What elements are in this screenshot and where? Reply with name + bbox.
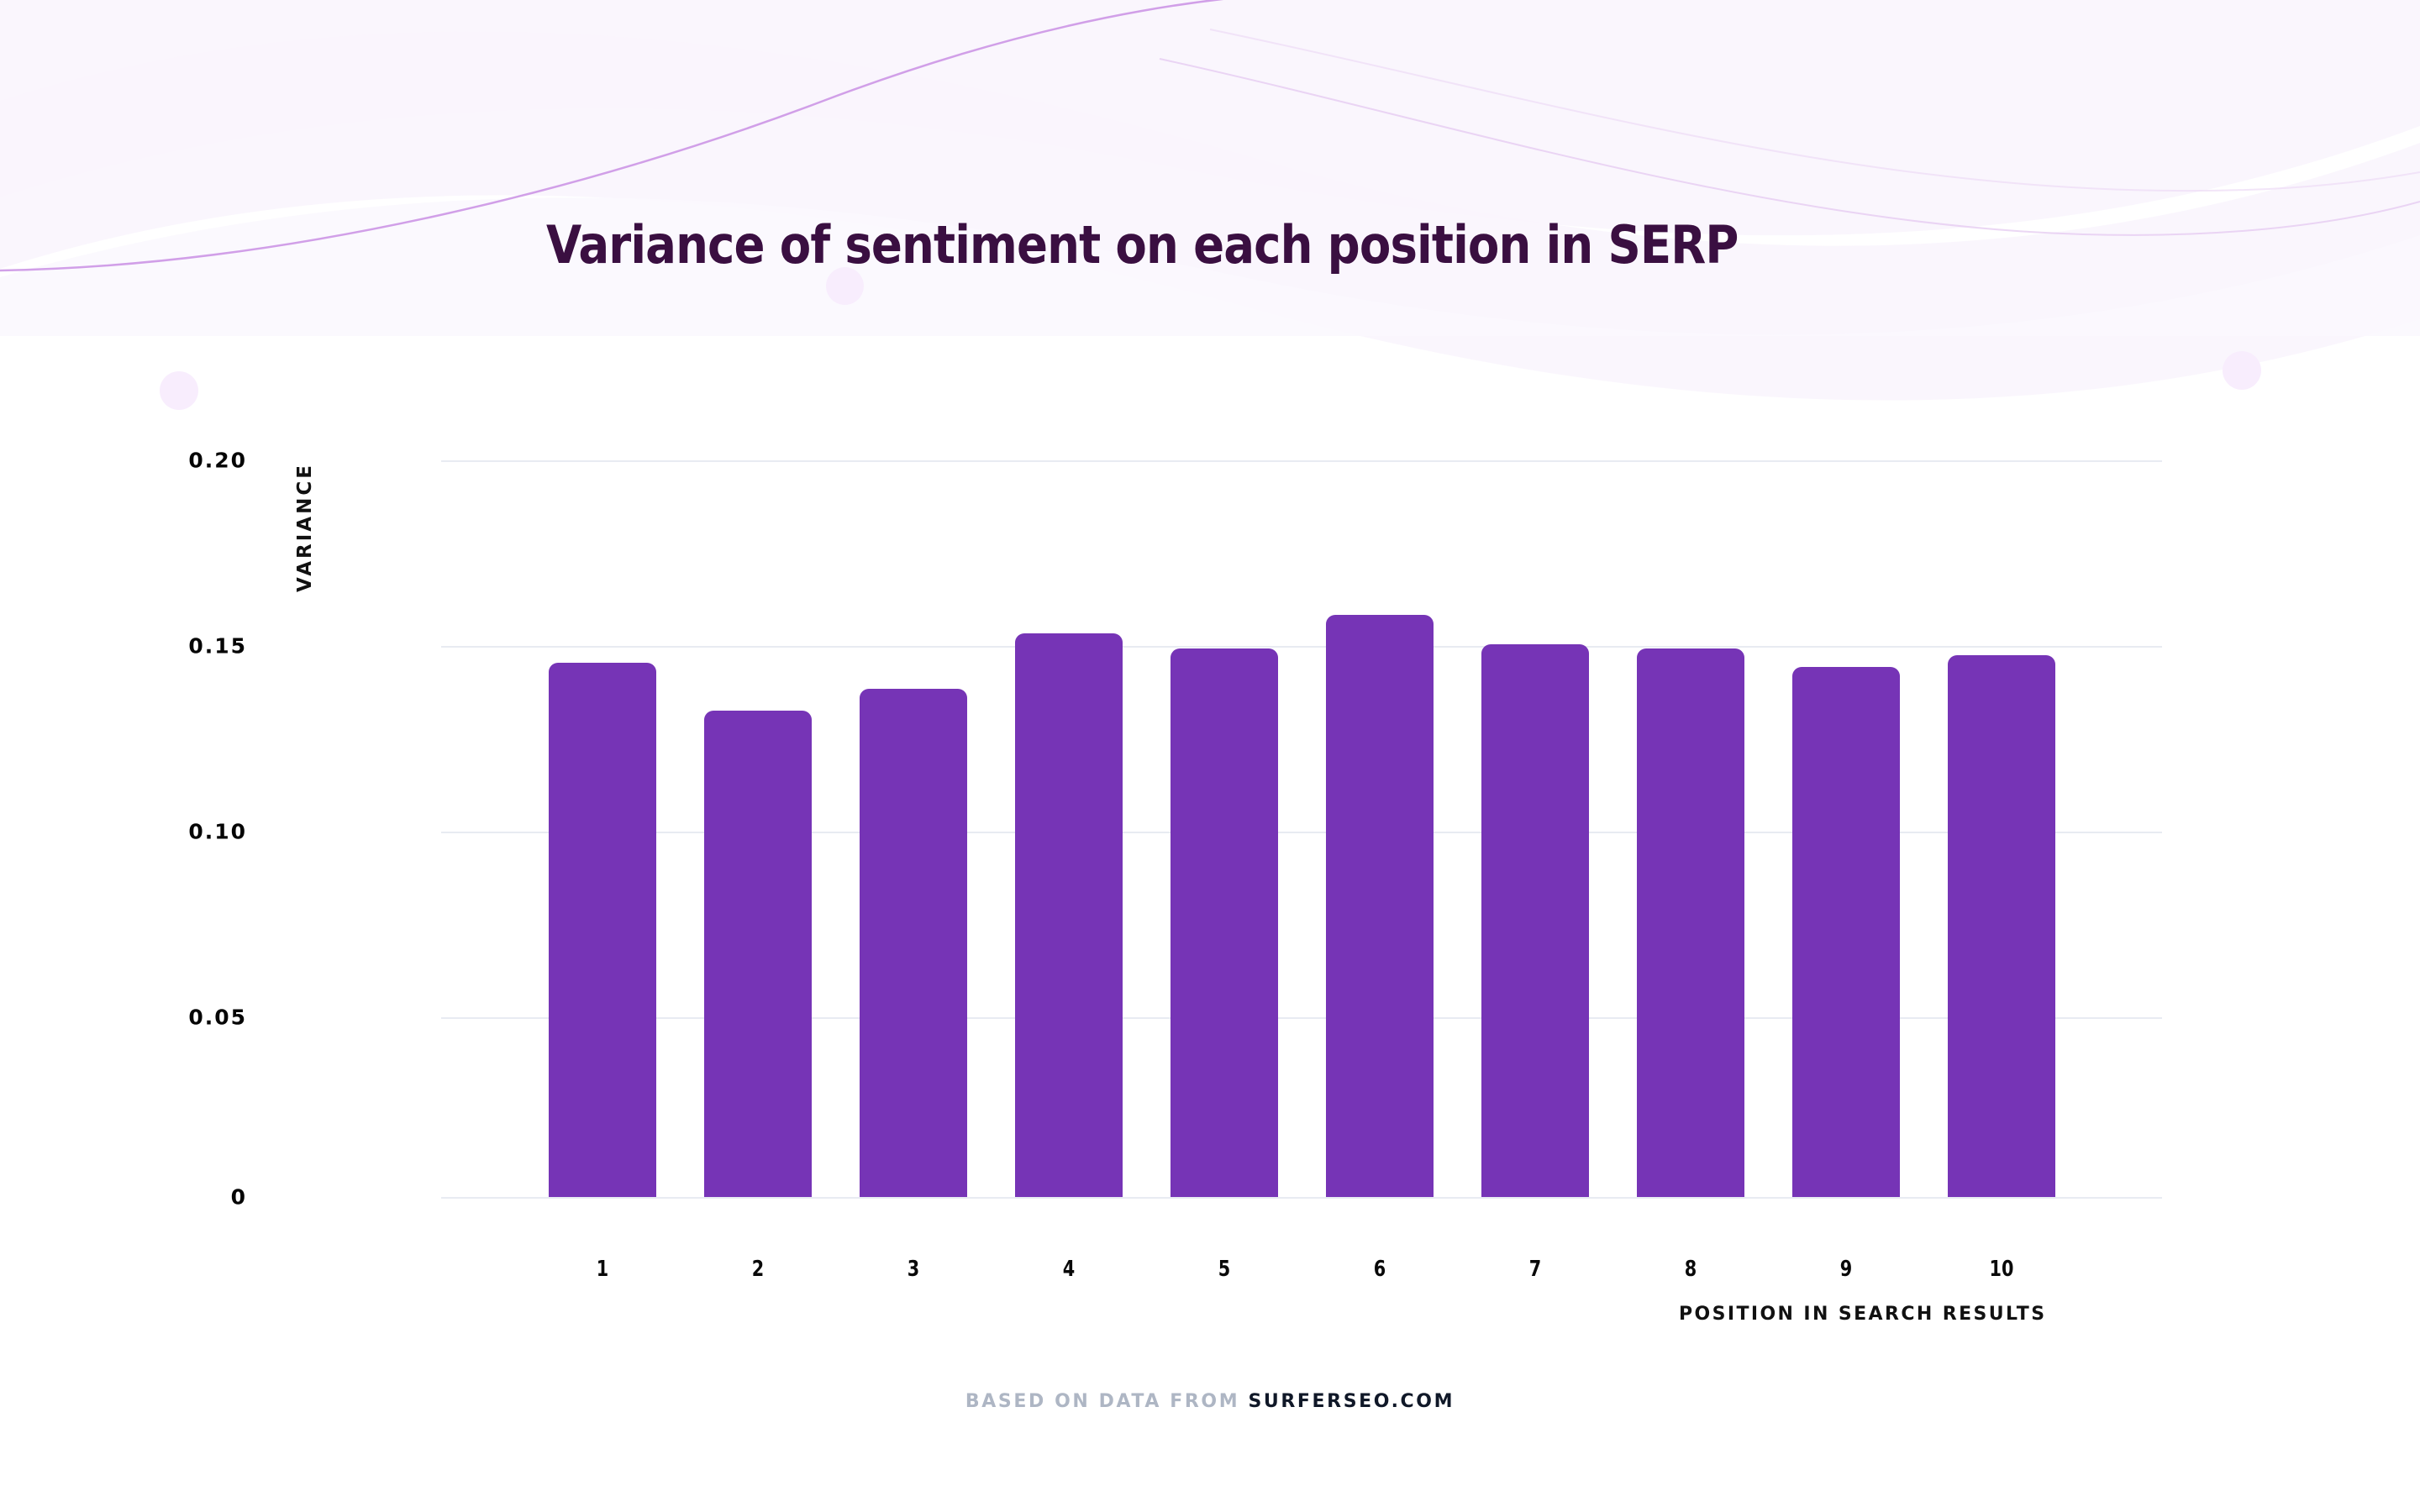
x-tick-label-7: 7 bbox=[1492, 1257, 1578, 1282]
y-tick-label-0: 0 bbox=[146, 1185, 247, 1210]
x-tick-label-9: 9 bbox=[1803, 1257, 1889, 1282]
x-tick-label-4: 4 bbox=[1026, 1257, 1112, 1282]
bars-layer bbox=[441, 454, 2162, 1197]
bar-position-7[interactable] bbox=[1481, 644, 1589, 1197]
bar-position-4[interactable] bbox=[1015, 633, 1123, 1197]
bar-position-2[interactable] bbox=[704, 711, 812, 1197]
x-tick-label-2: 2 bbox=[715, 1257, 801, 1282]
y-tick-label-4: 0.20 bbox=[146, 449, 247, 473]
x-tick-label-6: 6 bbox=[1337, 1257, 1423, 1282]
x-axis-title: POSITION IN SEARCH RESULTS bbox=[1679, 1304, 2046, 1325]
bar-position-3[interactable] bbox=[860, 689, 967, 1197]
y-tick-label-3: 0.15 bbox=[146, 634, 247, 659]
chart-title: Variance of sentiment on each position i… bbox=[546, 214, 1739, 276]
source-prefix-label: BASED ON DATA FROM bbox=[965, 1391, 1239, 1412]
source-name-label: SURFERSEO.COM bbox=[1248, 1391, 1455, 1412]
x-tick-label-5: 5 bbox=[1181, 1257, 1267, 1282]
y-tick-label-1: 0.05 bbox=[146, 1005, 247, 1030]
x-tick-label-1: 1 bbox=[560, 1257, 645, 1282]
bar-position-6[interactable] bbox=[1326, 615, 1434, 1197]
bar-position-5[interactable] bbox=[1171, 648, 1278, 1197]
bar-position-8[interactable] bbox=[1637, 648, 1744, 1197]
bar-position-1[interactable] bbox=[549, 663, 656, 1197]
gridline-0 bbox=[441, 1197, 2162, 1199]
bar-position-9[interactable] bbox=[1792, 667, 1900, 1197]
chart-container: Variance of sentiment on each position i… bbox=[0, 0, 2420, 1512]
x-tick-label-3: 3 bbox=[871, 1257, 956, 1282]
x-tick-label-8: 8 bbox=[1648, 1257, 1733, 1282]
bar-position-10[interactable] bbox=[1948, 655, 2055, 1197]
y-axis-title: VARIANCE bbox=[294, 407, 316, 592]
source-attribution: BASED ON DATA FROM SURFERSEO.COM bbox=[0, 1391, 2420, 1412]
y-tick-label-2: 0.10 bbox=[146, 820, 247, 844]
x-tick-label-10: 10 bbox=[1959, 1257, 2044, 1282]
